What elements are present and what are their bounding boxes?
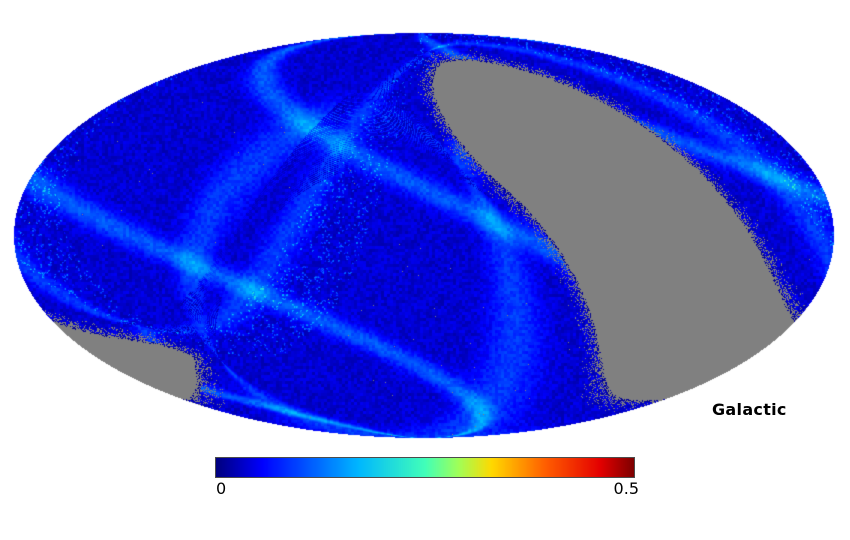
colorbar-bar[interactable] (215, 457, 635, 478)
colorbar[interactable]: 0 0.5 (215, 457, 637, 503)
coordinate-system-label: Galactic (712, 400, 787, 419)
mollweide-sky-map[interactable] (0, 0, 850, 460)
colorbar-max-tick-label: 0.5 (614, 479, 639, 498)
colorbar-gradient (216, 458, 634, 477)
sky-map-figure: I Stokes Galactic 0 0.5 (0, 0, 850, 540)
colorbar-min-tick-label: 0 (216, 479, 226, 498)
